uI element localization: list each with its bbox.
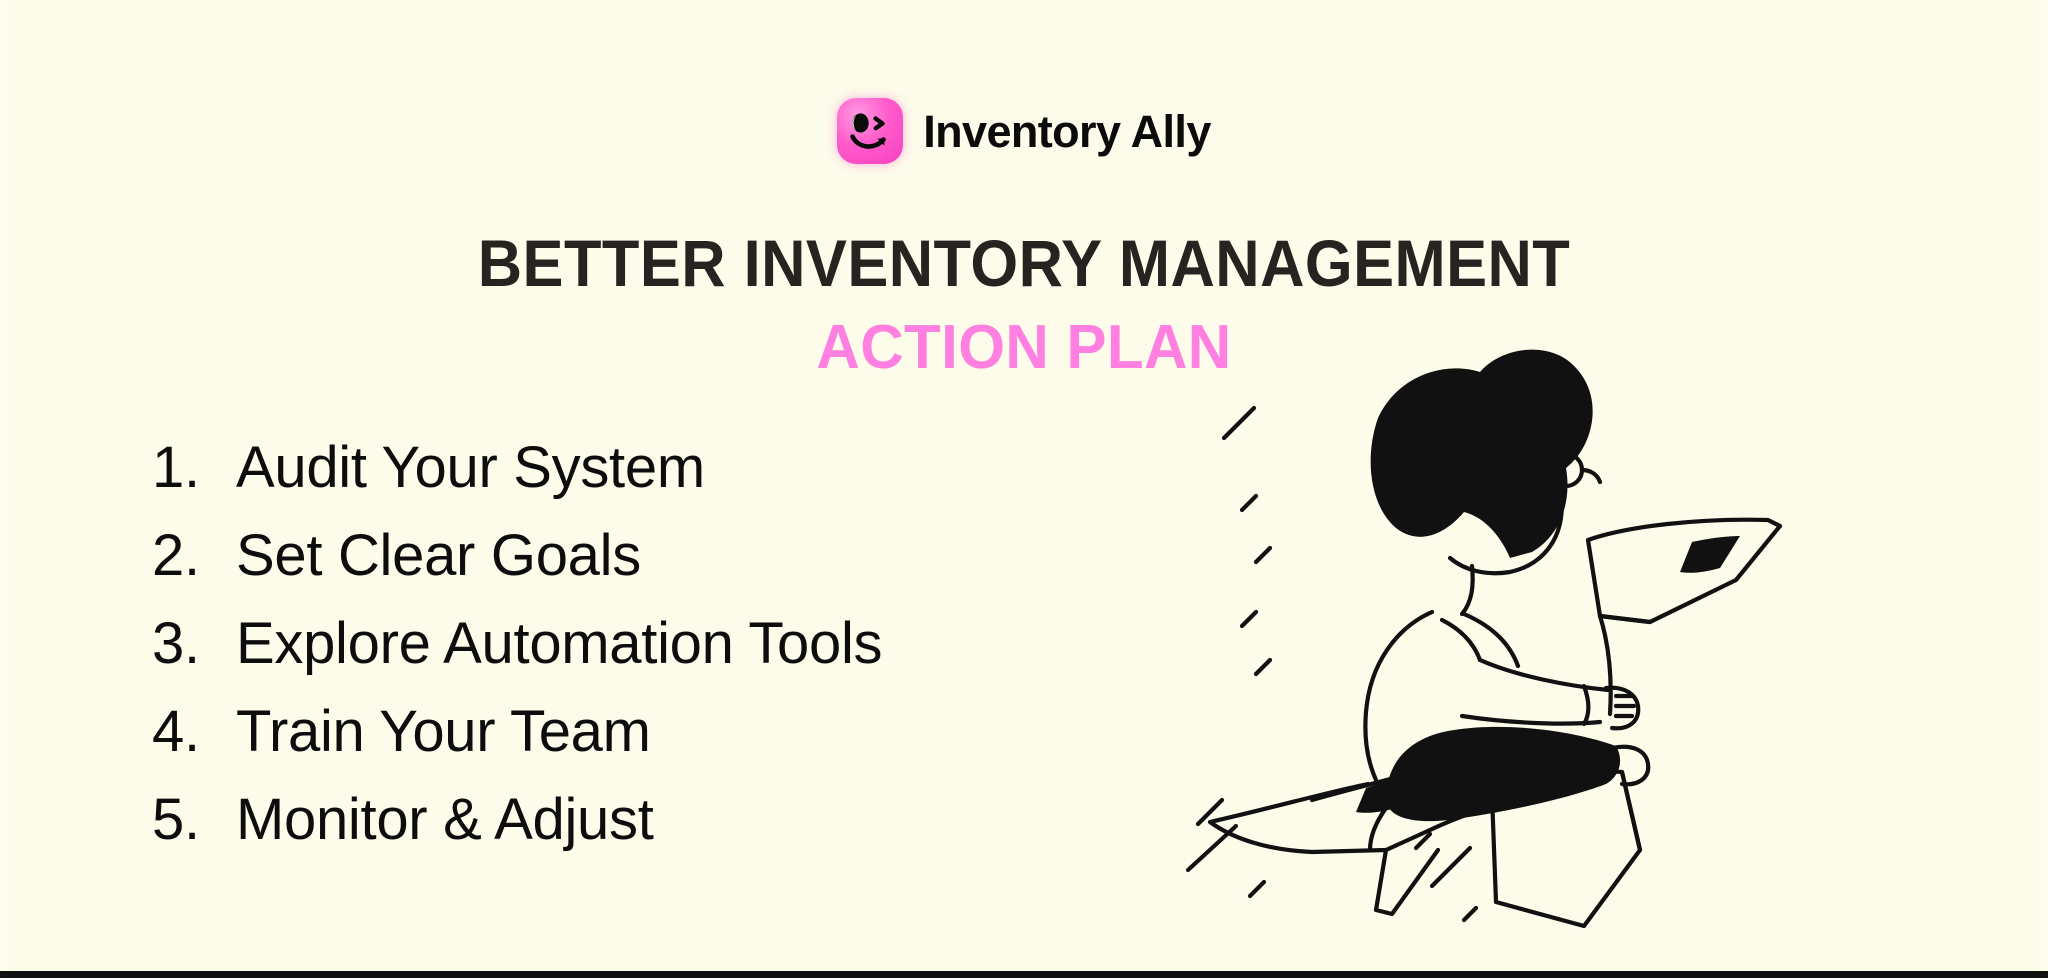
list-item-label: Set Clear Goals [236, 512, 641, 600]
action-plan-list: 1. Audit Your System 2. Set Clear Goals … [152, 424, 1212, 864]
list-item-label: Train Your Team [236, 688, 651, 776]
list-item: 4. Train Your Team [152, 688, 1212, 776]
list-item: 1. Audit Your System [152, 424, 1212, 512]
list-item-number: 3. [152, 600, 236, 688]
list-item-number: 5. [152, 776, 236, 864]
footer-rule [0, 971, 2048, 978]
list-item-number: 2. [152, 512, 236, 600]
list-item-number: 1. [152, 424, 236, 512]
list-item-label: Audit Your System [236, 424, 705, 512]
page-title: BETTER INVENTORY MANAGEMENT [72, 228, 1977, 299]
brand-name: Inventory Ally [923, 109, 1211, 154]
slide-canvas: Inventory Ally BETTER INVENTORY MANAGEME… [0, 0, 2048, 978]
list-item: 5. Monitor & Adjust [152, 776, 1212, 864]
list-item-number: 4. [152, 688, 236, 776]
brand-lockup: Inventory Ally [0, 98, 2048, 164]
list-item: 2. Set Clear Goals [152, 512, 1212, 600]
woman-riding-paper-airplane-illustration [1180, 330, 1820, 930]
list-item-label: Monitor & Adjust [236, 776, 654, 864]
winking-smiley-icon [837, 98, 903, 164]
list-item-label: Explore Automation Tools [236, 600, 882, 688]
list-item: 3. Explore Automation Tools [152, 600, 1212, 688]
